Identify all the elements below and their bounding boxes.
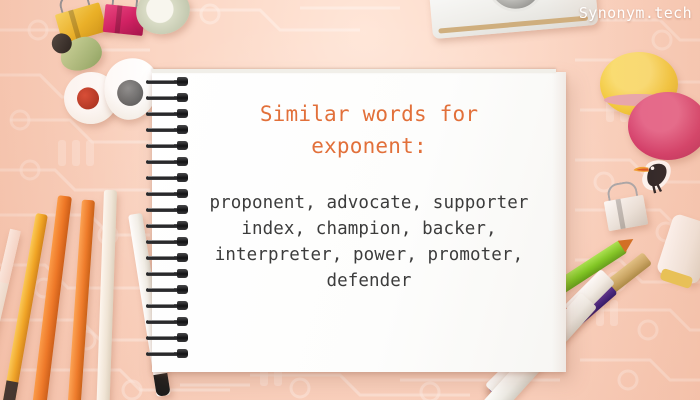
desk-background: Similar words for exponent: proponent, a… [0, 0, 700, 400]
spiral-loop [146, 206, 186, 214]
spiral-loop [146, 78, 186, 86]
eraser-center-red [76, 86, 101, 111]
spiral-loop [146, 222, 186, 230]
spiral-loop [146, 334, 186, 342]
spiral-loop [146, 238, 186, 246]
eraser-center-gray [115, 77, 146, 108]
synonym-list: proponent, advocate, supporter index, ch… [182, 190, 556, 294]
spiral-loop [146, 110, 186, 118]
camera-lens [484, 0, 547, 14]
spiral-loop [146, 350, 186, 358]
page-title: Similar words for exponent: [182, 98, 556, 162]
spiral-loop [146, 190, 186, 198]
title-line-prefix: Similar words for [182, 98, 556, 130]
title-line-headword: exponent: [182, 130, 556, 162]
synonym-line: proponent, advocate, supporter [182, 190, 556, 216]
spiral-loop [146, 126, 186, 134]
spiral-loop [146, 302, 186, 310]
spiral-loop [146, 270, 186, 278]
spiral-loop [146, 254, 186, 262]
site-watermark: Synonym.tech [579, 4, 692, 22]
spiral-binding [146, 74, 192, 370]
notepad-content: Similar words for exponent: proponent, a… [182, 72, 556, 294]
notepad: Similar words for exponent: proponent, a… [152, 72, 566, 372]
spiral-loop [146, 142, 186, 150]
spiral-loop [146, 174, 186, 182]
spiral-loop [146, 286, 186, 294]
spiral-loop [146, 158, 186, 166]
synonym-line: interpreter, power, promoter, [182, 242, 556, 268]
spiral-loop [146, 318, 186, 326]
synonym-line: defender [182, 268, 556, 294]
spiral-loop [146, 94, 186, 102]
synonym-line: index, champion, backer, [182, 216, 556, 242]
